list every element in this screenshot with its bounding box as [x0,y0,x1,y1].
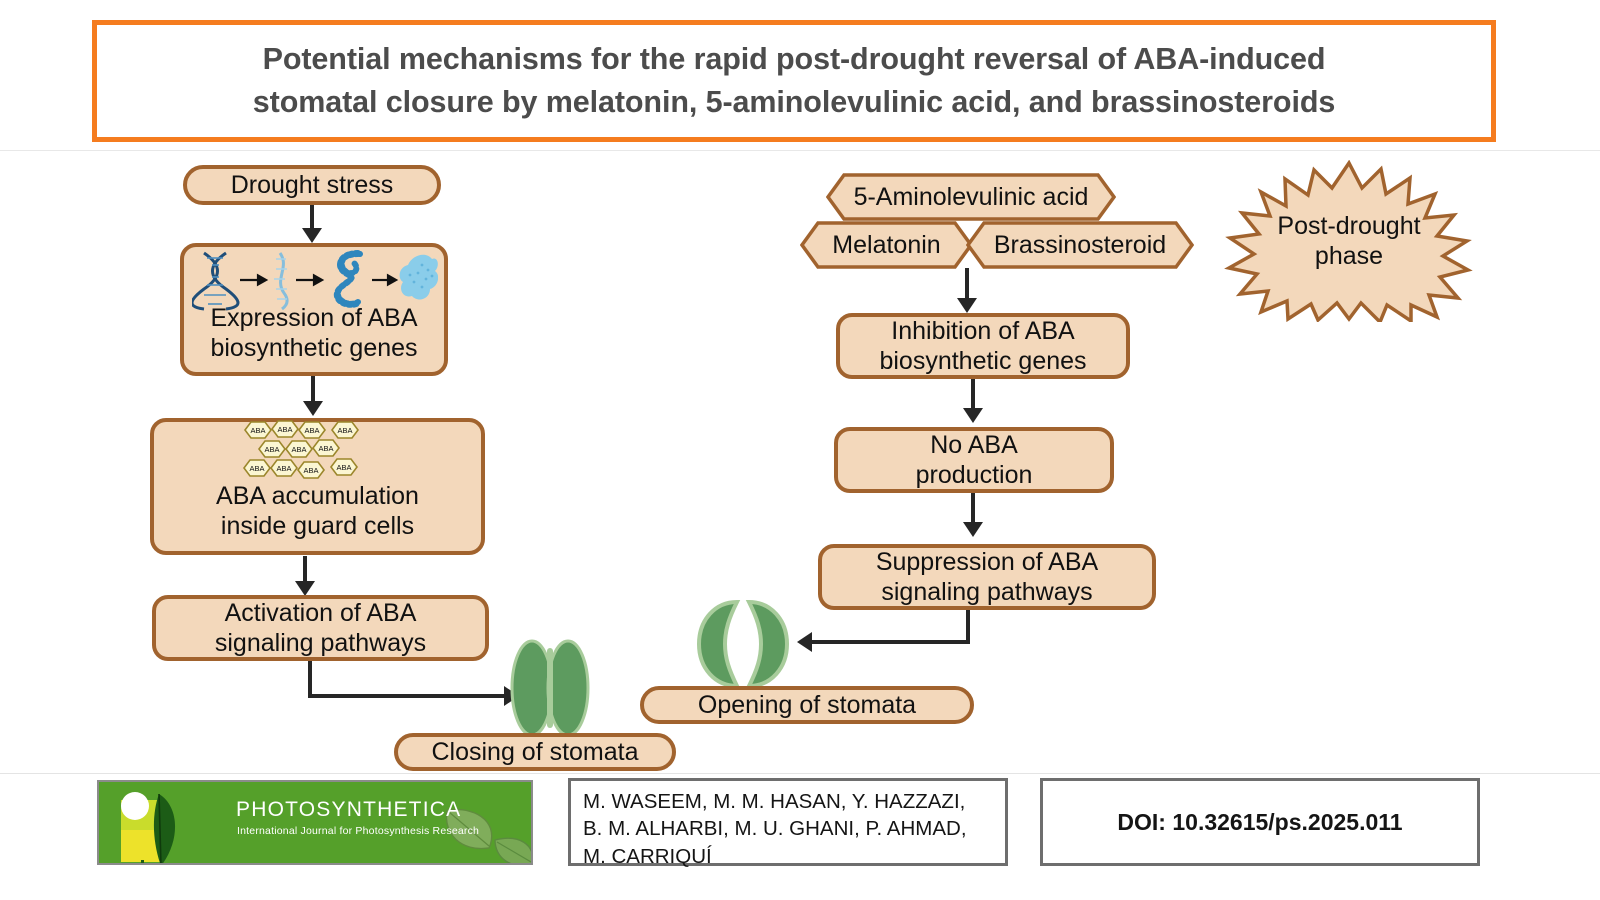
arrow-accumulation-to-activation [303,556,307,584]
node-drought-stress: Drought stress [183,165,441,205]
arrow-inhibition-to-no-production-head [963,408,983,423]
journal-logo-artwork [99,782,533,865]
closed-stomata-icon [508,638,592,738]
node-closing-of-stomata: Closing of stomata [394,733,676,771]
title-box: Potential mechanisms for the rapid post-… [92,20,1496,142]
node-post-drought-phase-label: Post-drought phase [1218,160,1480,322]
node-treatment-melatonin: Melatonin [800,221,973,269]
aba-hexagon-cluster-svg: ABA ABA ABA ABA ABA ABA ABA ABA ABA ABA … [240,420,388,482]
node-expression-of-aba-genes-label: Expression of ABA biosynthetic genes [202,303,425,363]
node-inhibition-aba-genes-label: Inhibition of ABA biosynthetic genes [871,316,1094,376]
logo-sun-icon [121,792,149,820]
aba-hexagon-cluster: ABA ABA ABA ABA ABA ABA ABA ABA ABA ABA … [240,420,388,482]
node-aba-accumulation-label: ABA accumulation inside guard cells [208,481,427,541]
svg-text:ABA: ABA [291,445,306,454]
authors-box: M. WASEEM, M. M. HASAN, Y. HAZZAZI, B. M… [568,778,1008,866]
node-opening-of-stomata-label: Opening of stomata [690,690,924,720]
arrow-expression-to-accumulation [311,376,315,404]
arrow-suppression-to-opening-horizontal [812,640,970,644]
node-post-drought-phase: Post-drought phase [1218,160,1480,322]
polypeptide-chain-icon [337,253,360,305]
arrow-inhibition-to-no-production [971,379,975,411]
arrow-drought-to-expression-head [302,228,322,243]
arrow-no-production-to-suppression-head [963,522,983,537]
node-activation-aba-signaling: Activation of ABA signaling pathways [152,595,489,661]
node-treatment-5-aminolevulinic-acid: 5-Aminolevulinic acid [826,173,1116,221]
node-closing-of-stomata-label: Closing of stomata [423,737,646,767]
svg-text:ABA: ABA [276,464,291,473]
gene-expression-illustration [192,249,438,311]
node-treatment-melatonin-label: Melatonin [832,231,940,260]
infographic-canvas: Potential mechanisms for the rapid post-… [0,0,1600,900]
journal-logo-banner: PHOTOSYNTHETICA International Journal fo… [97,780,533,865]
node-suppression-aba-signaling-label: Suppression of ABA signaling pathways [868,547,1106,607]
arrow-suppression-to-opening-vertical [966,610,970,644]
doi-box: DOI: 10.32615/ps.2025.011 [1040,778,1480,866]
header-divider [0,150,1600,151]
arrow-activation-to-closing-horizontal [308,694,506,698]
arrow-activation-to-closing-vertical [308,661,312,698]
svg-text:ABA: ABA [336,463,351,472]
arrow-no-production-to-suppression [971,493,975,525]
node-no-aba-production-label: No ABA production [908,430,1041,490]
open-stomata-icon [693,598,793,690]
gene-expression-svg [192,249,438,311]
journal-name: PHOTOSYNTHETICA [236,798,461,822]
arrow-dna-to-rna-icon [240,276,266,285]
svg-text:ABA: ABA [277,425,292,434]
arrow-polypeptide-to-protein-icon [372,276,396,285]
svg-text:ABA: ABA [249,464,264,473]
svg-text:ABA: ABA [303,466,318,475]
node-inhibition-aba-genes: Inhibition of ABA biosynthetic genes [836,313,1130,379]
folded-protein-icon [400,255,438,300]
svg-text:ABA: ABA [250,426,265,435]
mrna-strand-icon [280,253,287,309]
svg-text:ABA: ABA [264,445,279,454]
dna-double-helix-icon [192,253,238,309]
arrow-rna-to-polypeptide-icon [296,276,322,285]
arrow-expression-to-accumulation-head [303,401,323,416]
node-no-aba-production: No ABA production [834,427,1114,493]
page-title: Potential mechanisms for the rapid post-… [253,38,1335,125]
journal-subtitle: International Journal for Photosynthesis… [237,825,479,837]
arrow-accumulation-to-activation-head [295,581,315,596]
svg-text:ABA: ABA [318,444,333,453]
node-opening-of-stomata: Opening of stomata [640,686,974,724]
node-activation-aba-signaling-label: Activation of ABA signaling pathways [207,598,434,658]
arrow-treatments-to-inhibition-head [957,298,977,313]
node-treatment-5-aminolevulinic-acid-label: 5-Aminolevulinic acid [854,183,1089,212]
node-drought-stress-label: Drought stress [223,170,402,200]
arrow-treatments-to-inhibition [965,268,969,302]
arrow-suppression-to-opening-head [797,632,812,652]
authors-list: M. WASEEM, M. M. HASAN, Y. HAZZAZI, B. M… [583,788,993,870]
svg-text:ABA: ABA [337,426,352,435]
footer-divider [0,773,1600,774]
svg-text:ABA: ABA [304,426,319,435]
node-treatment-brassinosteroid: Brassinosteroid [966,221,1194,269]
doi-text: DOI: 10.32615/ps.2025.011 [1117,809,1402,836]
node-treatment-brassinosteroid-label: Brassinosteroid [994,231,1166,260]
closed-stomata-svg [508,638,592,738]
node-suppression-aba-signaling: Suppression of ABA signaling pathways [818,544,1156,610]
open-stomata-svg [693,598,793,690]
